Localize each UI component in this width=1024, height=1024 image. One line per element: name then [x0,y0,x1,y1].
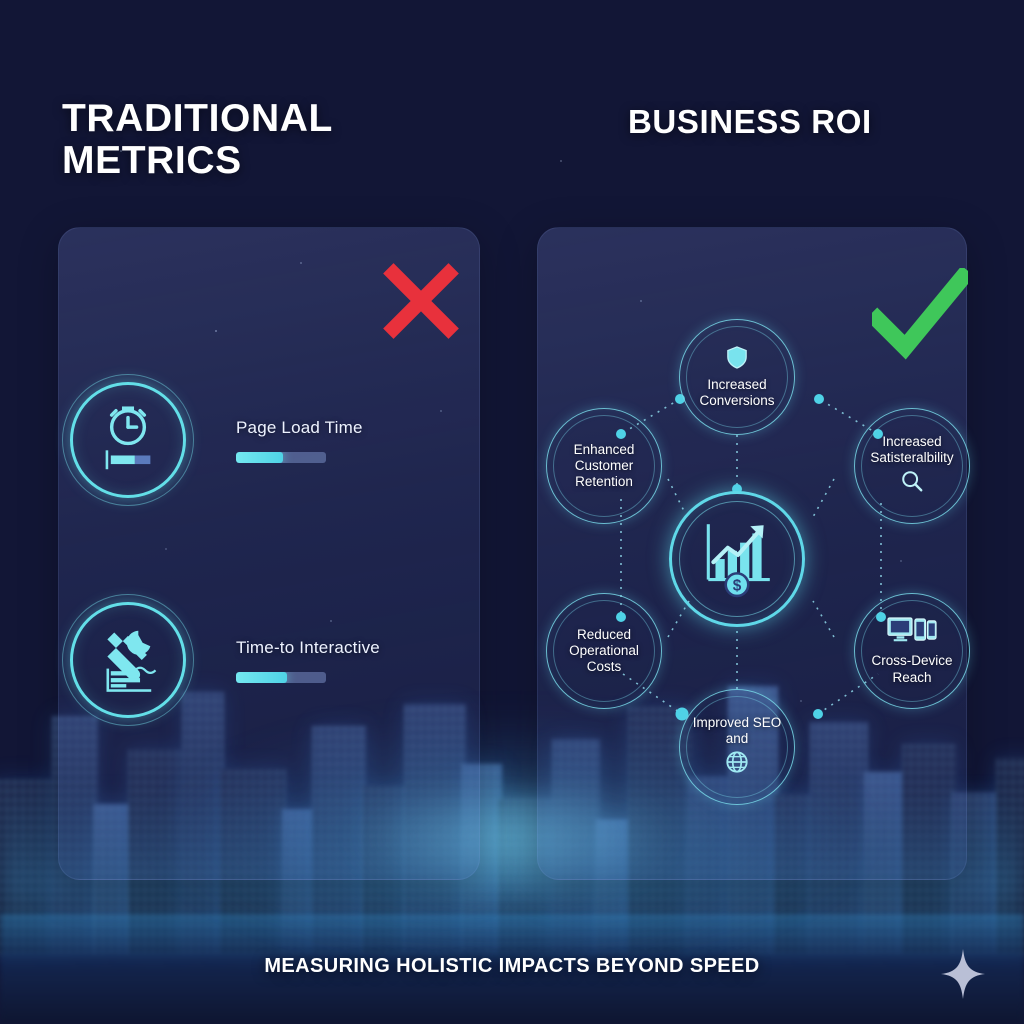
page-title-traditional: TRADITIONAL METRICS [62,98,442,182]
metric-row-time-to-interactive: Time-to Interactive [58,590,380,730]
node-label: Increased Satisteralbility [854,434,970,466]
footer-caption: MEASURING HOLISTIC IMPACTS BEYOND SPEED [0,955,1024,978]
metric-row-page-load-time: Page Load Time [58,370,363,510]
node-label: Enhanced Customer Retention [546,442,662,491]
node-increased-conversions[interactable]: Increased Conversions [679,319,795,435]
globe-icon [725,750,749,779]
metric-progress-bar [236,452,326,463]
metric-progress-bar [236,672,326,683]
node-reduced-operational-costs[interactable]: Reduced Operational Costs [546,593,662,709]
page-title-business-roi: BUSINESS ROI [628,104,988,140]
growth-chart-dollar-icon: $ [696,516,778,603]
svg-text:$: $ [733,577,742,594]
node-improved-seo[interactable]: Improved SEO and [679,689,795,805]
magnifier-icon [900,469,924,498]
infographic-canvas: TRADITIONAL METRICS BUSINESS ROI [0,0,1024,1024]
stopwatch-icon [58,370,198,510]
node-label: Cross-Device Reach [854,653,970,685]
node-enhanced-customer-retention[interactable]: Enhanced Customer Retention [546,408,662,524]
node-label: Reduced Operational Costs [546,627,662,676]
node-label: Improved SEO and [679,715,795,747]
metric-label: Time-to Interactive [236,638,380,658]
metric-label: Page Load Time [236,418,363,438]
roi-network-diagram: Increased Conversions Enhanced Customer … [537,227,965,878]
node-label: Increased Conversions [679,377,795,409]
node-increased-satisfaction[interactable]: Increased Satisteralbility [854,408,970,524]
node-hub-growth[interactable]: $ [669,491,805,627]
node-cross-device-reach[interactable]: Cross-Device Reach [854,593,970,709]
red-x-icon [378,258,464,344]
metric-progress-fill [236,452,283,463]
tools-icon [58,590,198,730]
metric-progress-fill [236,672,287,683]
sparkle-icon [940,948,986,1000]
metric-icon-ring [58,590,198,730]
metric-icon-ring [58,370,198,510]
